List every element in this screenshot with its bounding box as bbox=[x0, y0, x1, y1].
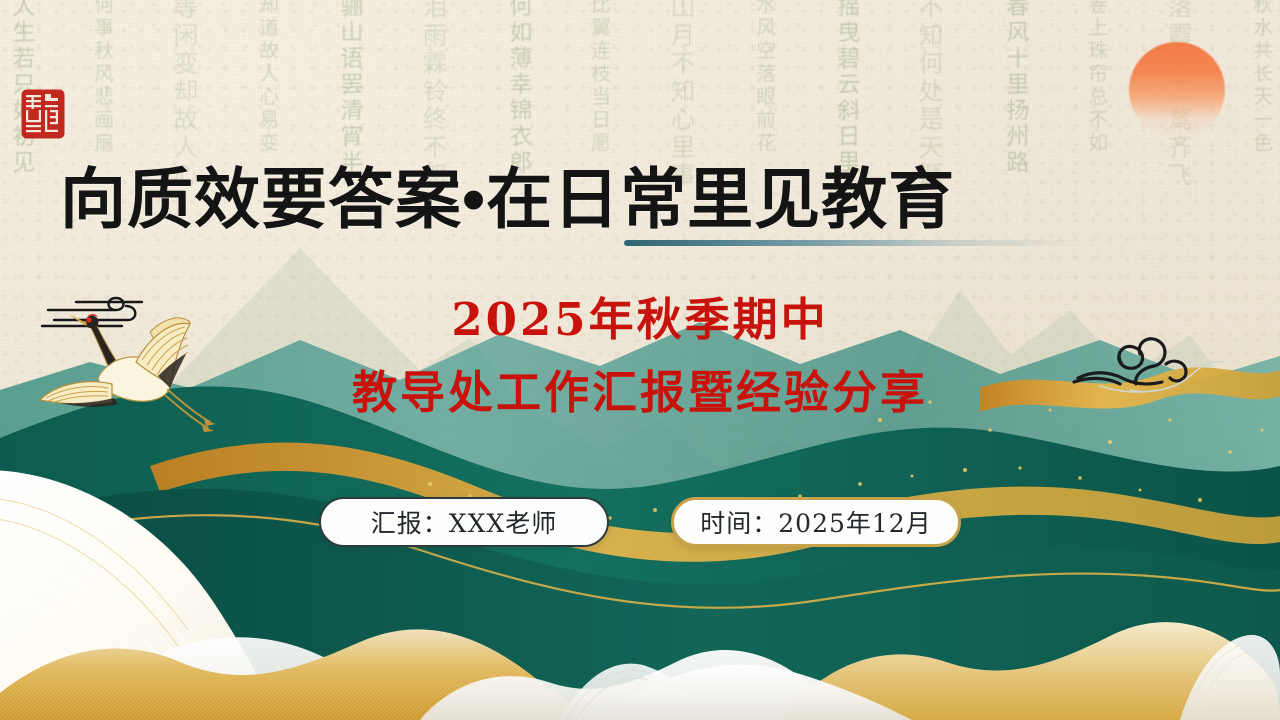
title-underline-rule bbox=[624, 240, 1084, 246]
subtitle-block: 2025年秋季期中 教导处工作汇报暨经验分享 bbox=[0, 296, 1280, 417]
orange-sun-icon bbox=[1129, 42, 1225, 138]
date-pill: 时间：2025年12月 bbox=[671, 497, 961, 547]
subtitle-line-2: 教导处工作汇报暨经验分享 bbox=[0, 369, 1280, 416]
subtitle-line-1: 2025年秋季期中 bbox=[0, 296, 1280, 343]
title-slide: 人生若只如初见 何事秋风悲画扇 等闲变却故人心 却道故人心易变 骊山语罢清宵半 … bbox=[0, 0, 1280, 720]
speaker-pill: 汇报：XXX老师 bbox=[319, 497, 609, 547]
footer-pill-group: 汇报：XXX老师 时间：2025年12月 bbox=[0, 497, 1280, 547]
red-seal-stamp-icon bbox=[20, 88, 66, 140]
page-title: 向质效要答案•在日常里见教育 bbox=[60, 146, 955, 242]
